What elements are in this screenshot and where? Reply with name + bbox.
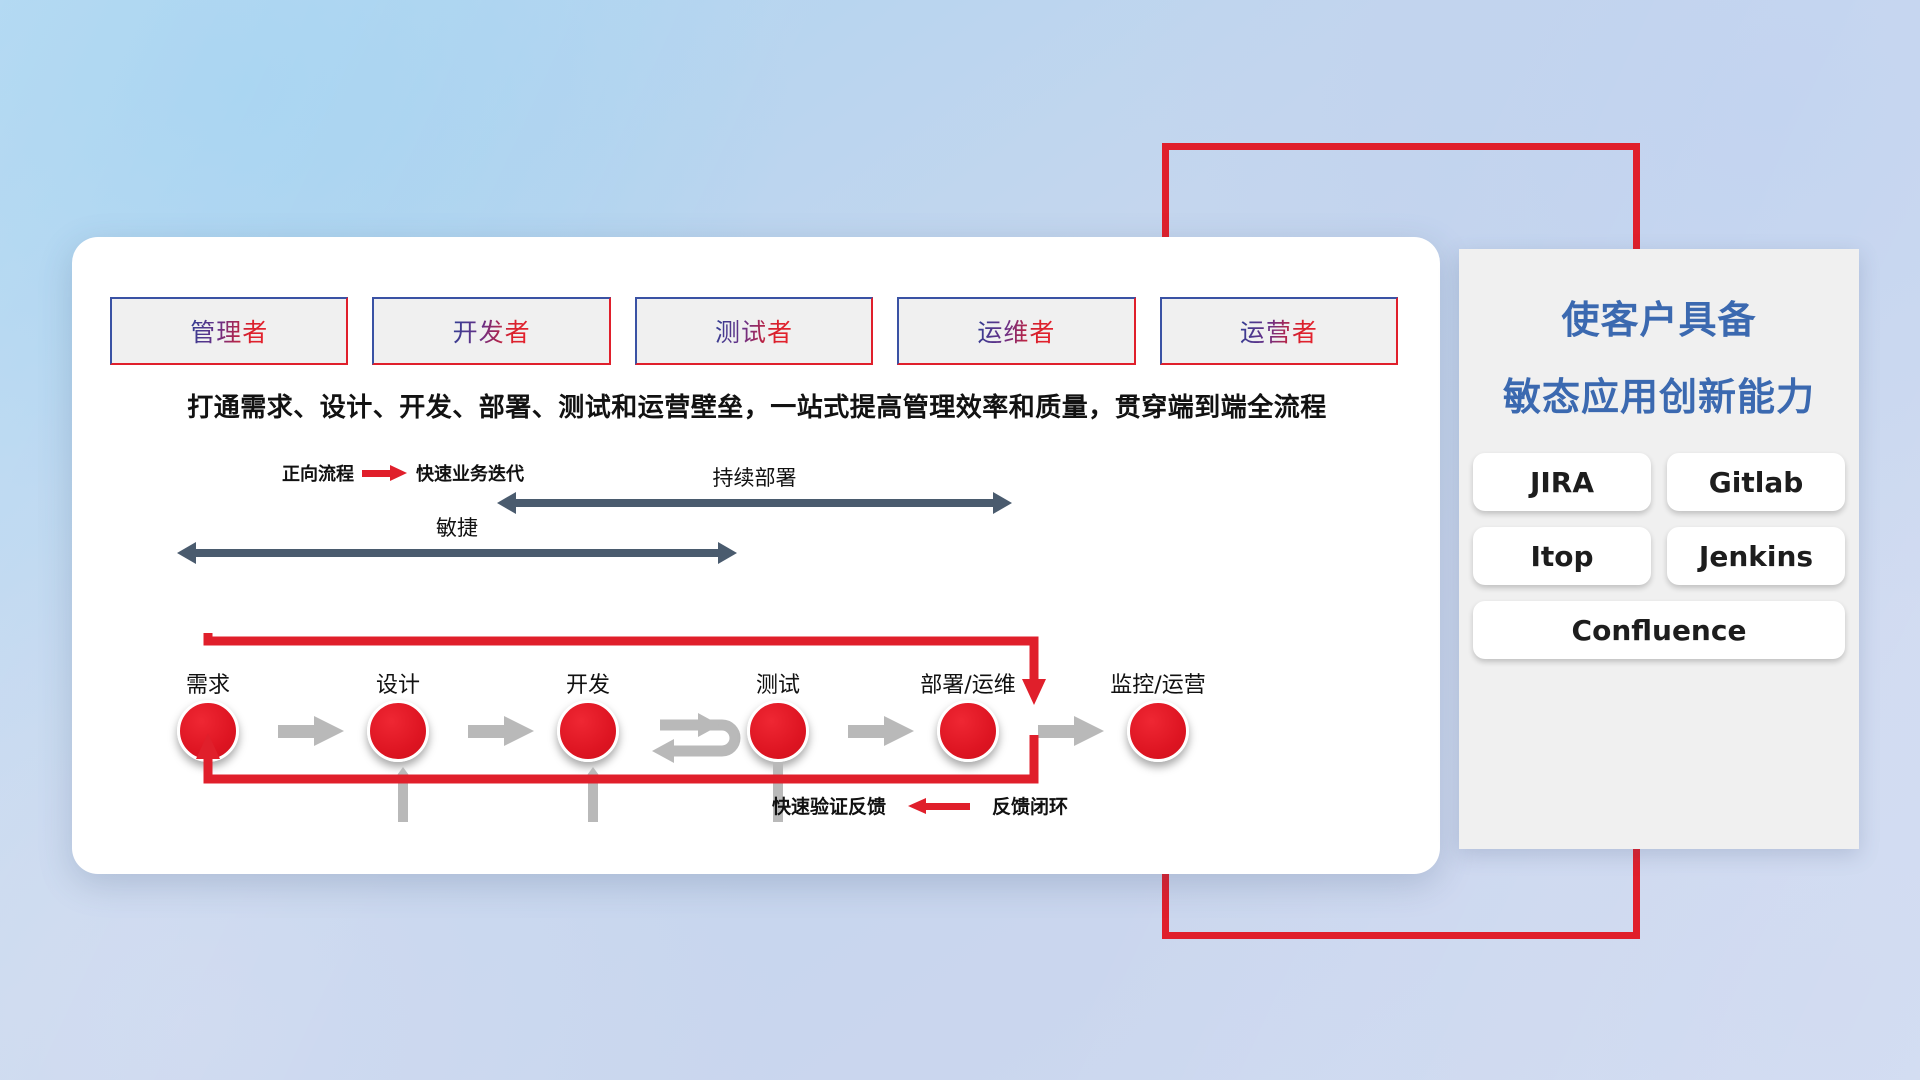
role-box-manager[interactable]: 管理者 [110,297,348,365]
arrow-right-red-icon [362,467,408,479]
legend-feedback-left-label: 快速验证反馈 [772,792,886,819]
role-label: 运营者 [1240,313,1318,349]
subtitle-text: 打通需求、设计、开发、部署、测试和运营壁垒，一站式提高管理效率和质量，贯穿端到端… [112,387,1402,424]
tool-badge-itop[interactable]: Itop [1473,527,1651,585]
span-label: 持续部署 [497,462,1012,492]
role-label: 测试者 [715,313,793,349]
tool-badge-jenkins[interactable]: Jenkins [1667,527,1845,585]
tool-badge-jira[interactable]: JIRA [1473,453,1651,511]
span-label: 敏捷 [177,512,737,542]
right-panel: 使客户具备 敏态应用创新能力 JIRA Gitlab Itop Jenkins … [1459,249,1859,849]
panel-title-line1: 使客户具备 [1459,289,1859,344]
legend-forward-flow: 正向流程 快速业务迭代 [282,460,524,486]
span-agile: 敏捷 [177,542,737,564]
legend-feedback-loop: 快速验证反馈 反馈闭环 [772,792,1068,819]
legend-forward-left-label: 正向流程 [282,460,354,486]
role-box-developer[interactable]: 开发者 [372,297,610,365]
panel-title-line2: 敏态应用创新能力 [1459,366,1859,421]
role-box-ops[interactable]: 运维者 [897,297,1135,365]
legend-feedback-right-label: 反馈闭环 [992,792,1068,819]
red-feedback-loop [190,627,1052,787]
role-box-tester[interactable]: 测试者 [635,297,873,365]
node-label-monitor-operate: 监控/运营 [1110,667,1205,699]
role-label: 管理者 [190,313,268,349]
tool-badge-list: JIRA Gitlab Itop Jenkins Confluence [1473,453,1845,659]
double-arrow-icon [497,492,1012,514]
main-card: 管理者 开发者 测试者 运维者 运营者 打通需求、设计、开发、部署、测试和运营壁… [72,237,1440,874]
tool-badge-confluence[interactable]: Confluence [1473,601,1845,659]
role-box-row: 管理者 开发者 测试者 运维者 运营者 [110,297,1398,365]
double-arrow-icon [177,542,737,564]
role-label: 开发者 [453,313,531,349]
role-box-operations[interactable]: 运营者 [1160,297,1398,365]
role-label: 运维者 [977,313,1055,349]
arrow-left-red-icon [908,800,970,812]
span-continuous-deployment: 持续部署 [497,492,1012,514]
node-monitor-operate[interactable] [1127,700,1189,762]
tool-badge-gitlab[interactable]: Gitlab [1667,453,1845,511]
